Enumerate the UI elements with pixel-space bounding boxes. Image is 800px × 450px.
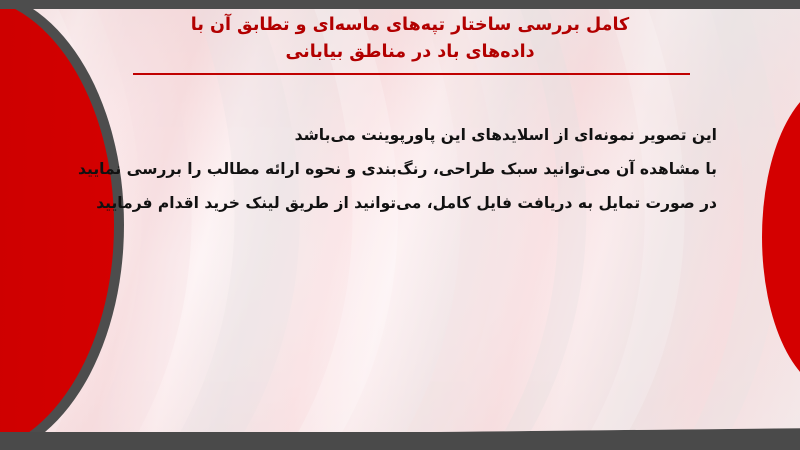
slide-body-line-3: در صورت تمایل به دریافت فایل کامل، می‌تو… xyxy=(97,186,717,220)
slide-body-text: این تصویر نمونه‌ای از اسلایدهای این پاور… xyxy=(97,118,717,220)
slide-title-line-2: داده‌های باد در مناطق بیابانی xyxy=(120,39,700,66)
slide-title: کامل بررسی ساختار تپه‌های ماسه‌ای و تطاب… xyxy=(120,12,700,66)
presentation-slide: کامل بررسی ساختار تپه‌های ماسه‌ای و تطاب… xyxy=(0,0,800,450)
slide-frame-bottom xyxy=(0,432,800,450)
slide-title-line-1: کامل بررسی ساختار تپه‌های ماسه‌ای و تطاب… xyxy=(120,12,700,39)
slide-body-line-2: با مشاهده آن می‌توانید سبک طراحی، رنگ‌بن… xyxy=(97,152,717,186)
title-divider-rule xyxy=(133,73,690,75)
slide-body-line-1: این تصویر نمونه‌ای از اسلایدهای این پاور… xyxy=(97,118,717,152)
slide-frame-top xyxy=(0,0,800,9)
